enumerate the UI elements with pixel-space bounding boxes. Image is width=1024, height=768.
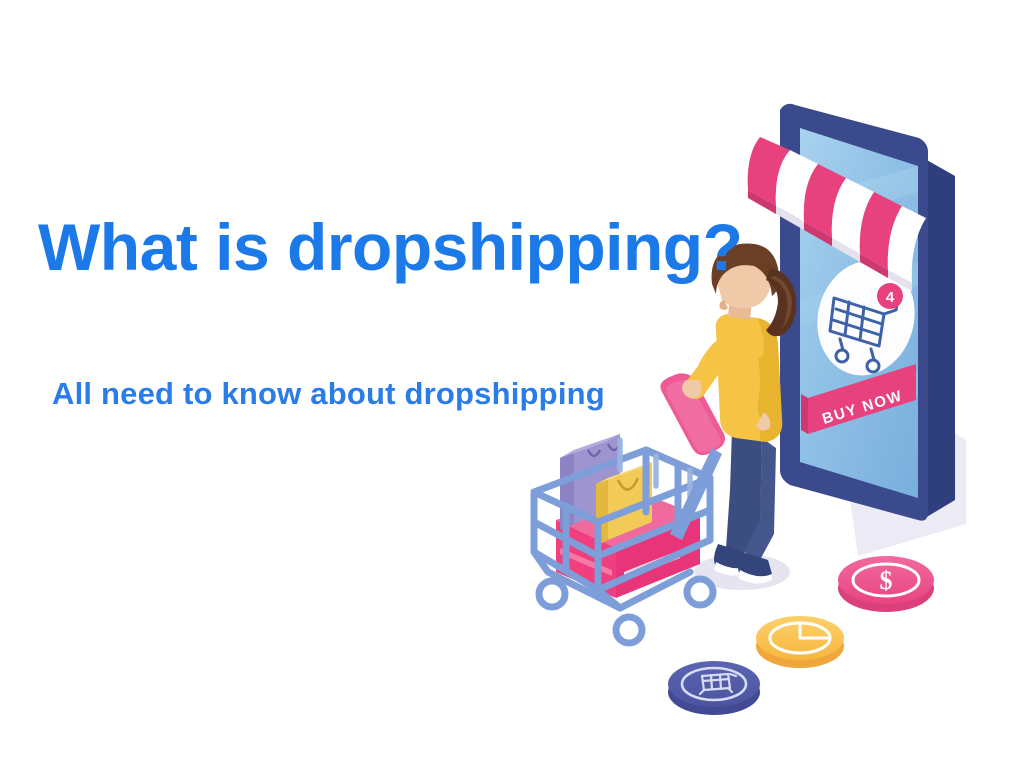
shopping-cart <box>534 373 725 643</box>
coin-chart <box>756 616 844 668</box>
coin-dollar: $ <box>838 556 934 612</box>
cart-badge: 4 <box>877 283 903 309</box>
coin-cart <box>668 661 760 715</box>
cart-badge-value: 4 <box>886 289 895 306</box>
slide-canvas: 4 BUY NOW <box>0 0 1024 768</box>
page-title: What is dropshipping? <box>38 214 742 280</box>
page-subtitle: All need to know about dropshipping <box>52 378 605 409</box>
coin-dollar-symbol: $ <box>880 566 893 595</box>
